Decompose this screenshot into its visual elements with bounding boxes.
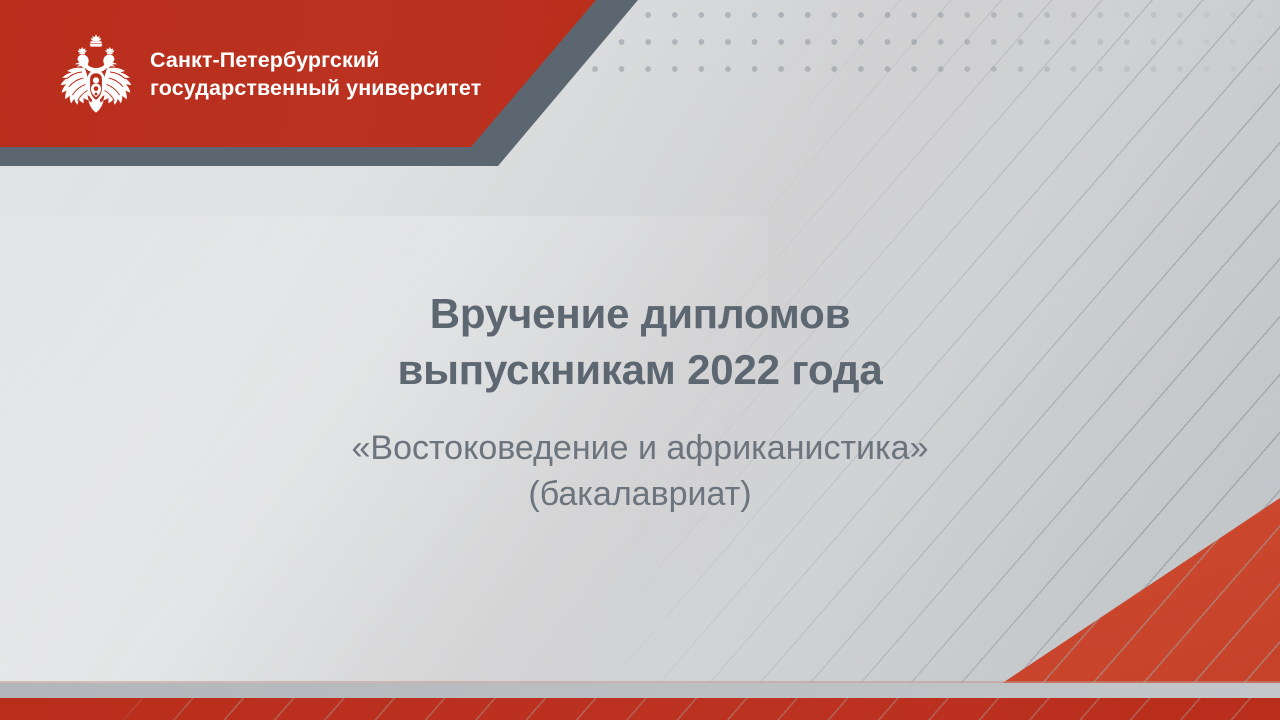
university-logo-text: Санкт-Петербургский государственный унив… bbox=[150, 46, 481, 103]
double-headed-eagle-icon bbox=[58, 32, 134, 116]
slide-title-block: Вручение дипломов выпускникам 2022 года … bbox=[0, 286, 1280, 518]
presentation-slide: Санкт-Петербургский государственный унив… bbox=[0, 0, 1280, 720]
dot-grid-pattern bbox=[592, 12, 1280, 80]
bottom-gray-band bbox=[0, 683, 1280, 698]
university-logo: Санкт-Петербургский государственный унив… bbox=[58, 32, 481, 116]
page-subtitle: «Востоковедение и африканистика» (бакала… bbox=[0, 426, 1280, 518]
bottom-red-bar-stripes bbox=[0, 698, 1280, 720]
page-title: Вручение дипломов выпускникам 2022 года bbox=[0, 286, 1280, 398]
